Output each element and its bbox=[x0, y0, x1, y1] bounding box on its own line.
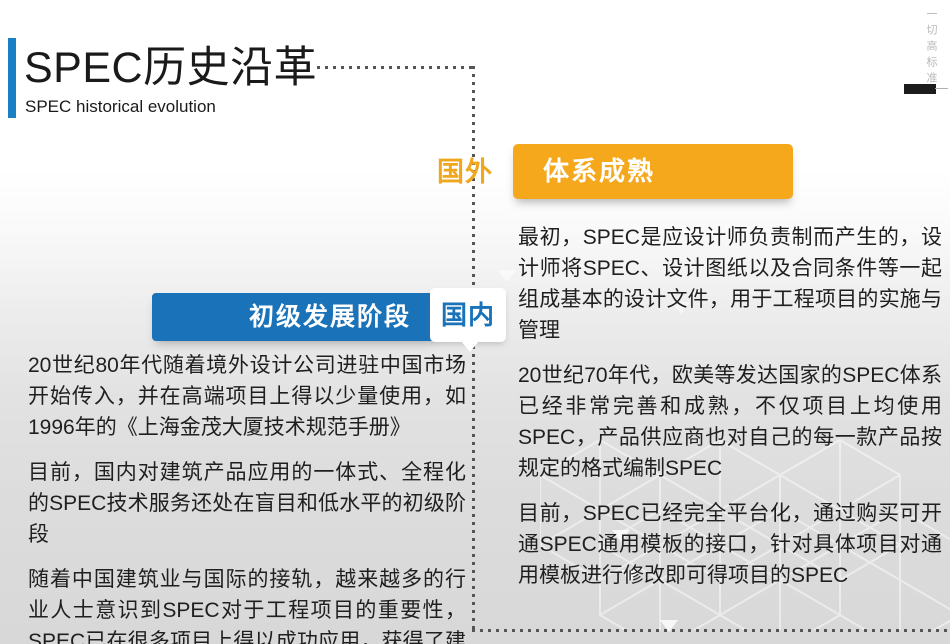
brand-vertical-text: 一切高标准 bbox=[925, 8, 936, 88]
abroad-paragraph: 最初，SPEC是应设计师负责制而产生的，设计师将SPEC、设计图纸以及合同条件等… bbox=[518, 222, 942, 346]
domestic-banner[interactable]: 初级发展阶段 bbox=[152, 293, 437, 341]
domestic-text-column: 20世纪80年代随着境外设计公司进驻中国市场开始传入，并在高端项目上得以少量使用… bbox=[28, 350, 466, 644]
dotted-connector-top bbox=[317, 66, 475, 69]
dotted-connector-bottom bbox=[472, 629, 950, 632]
abroad-banner-label: 体系成熟 bbox=[543, 144, 655, 199]
triangle-marker bbox=[498, 270, 516, 282]
abroad-banner[interactable]: 体系成熟 bbox=[513, 144, 793, 199]
slide-canvas: SPEC历史沿革 SPEC historical evolution 一切高标准… bbox=[0, 0, 950, 644]
domestic-tag-box[interactable]: 国内 bbox=[430, 288, 506, 342]
domestic-tag-label: 国内 bbox=[430, 288, 506, 342]
domestic-paragraph: 20世纪80年代随着境外设计公司进驻中国市场开始传入，并在高端项目上得以少量使用… bbox=[28, 350, 466, 443]
domestic-paragraph: 目前，国内对建筑产品应用的一体式、全程化的SPEC技术服务还处在盲目和低水平的初… bbox=[28, 457, 466, 550]
brand-bar-line bbox=[935, 88, 948, 89]
brand-bar-mark bbox=[904, 84, 936, 94]
page-subtitle: SPEC historical evolution bbox=[25, 97, 216, 117]
domestic-banner-label: 初级发展阶段 bbox=[249, 293, 411, 341]
abroad-text-column: 最初，SPEC是应设计师负责制而产生的，设计师将SPEC、设计图纸以及合同条件等… bbox=[518, 222, 942, 605]
title-accent-bar bbox=[8, 38, 16, 118]
abroad-paragraph: 20世纪70年代，欧美等发达国家的SPEC体系已经非常完善和成熟，不仅项目上均使… bbox=[518, 360, 942, 484]
domestic-paragraph: 随着中国建筑业与国际的接轨，越来越多的行业人士意识到SPEC对于工程项目的重要性… bbox=[28, 564, 466, 644]
abroad-tag-label: 国外 bbox=[437, 152, 493, 192]
page-title: SPEC历史沿革 bbox=[24, 33, 317, 95]
abroad-paragraph: 目前，SPEC已经完全平台化，通过购买可开通SPEC通用模板的接口，针对具体项目… bbox=[518, 498, 942, 591]
